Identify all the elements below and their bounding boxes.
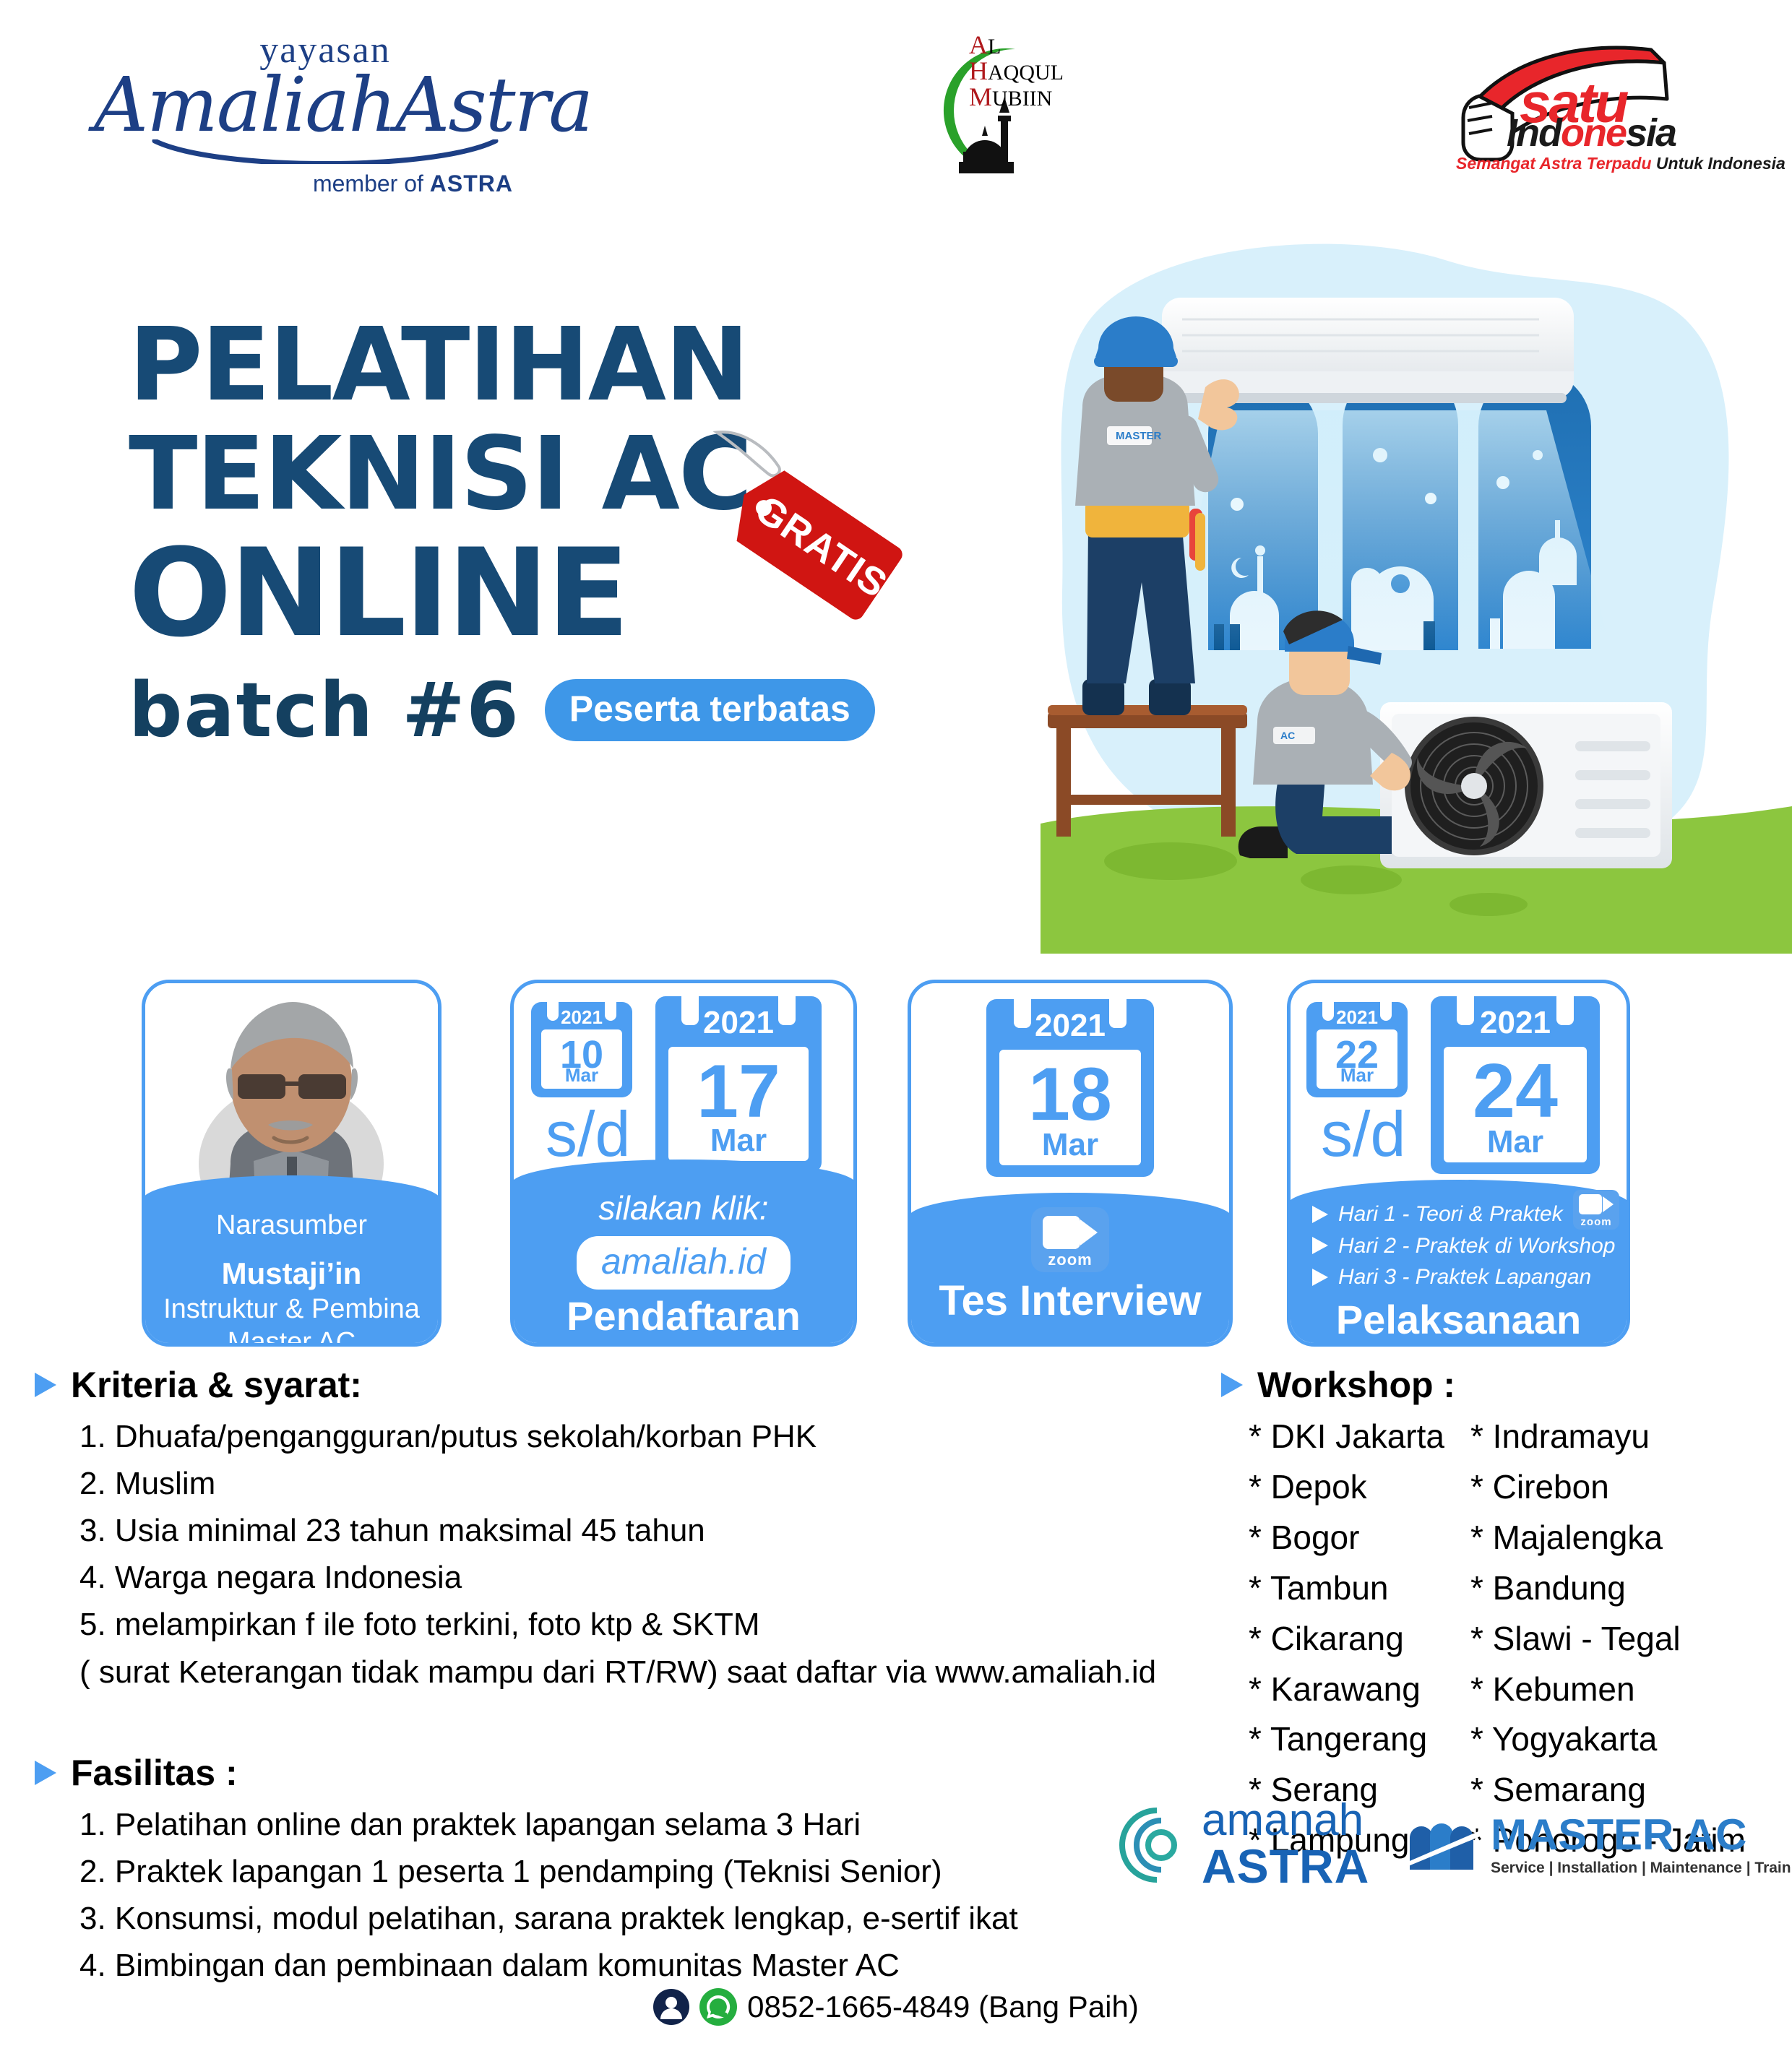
pendaftaran-klik-label: silakan klik:	[511, 1188, 856, 1227]
fasilitas-list: 1. Pelatihan online dan praktek lapangan…	[79, 1801, 1162, 1989]
workshop-section: Workshop : * DKI Jakarta * Depok * Bogor…	[1221, 1364, 1770, 1866]
bullet-triangle-icon	[35, 1761, 56, 1785]
member-of-label: member of	[313, 170, 430, 197]
cal-interview-month: Mar	[999, 1129, 1141, 1161]
list-item: * Cikarang	[1249, 1614, 1444, 1664]
narasumber-text: Narasumber Mustaji’in Instruktur & Pembi…	[142, 1175, 441, 1347]
satu-indonesia-logo: satu Indonesia Semangat Astra Terpadu Un…	[1434, 18, 1709, 184]
workshop-title: Workshop :	[1257, 1364, 1455, 1406]
zoom-label: zoom	[1043, 1251, 1098, 1269]
narasumber-role-2: Master AC	[142, 1326, 441, 1347]
contact-footer: 0852-1665-4849 (Bang Paih)	[0, 1988, 1792, 2026]
pelaksanaan-day-3: Hari 3 - Praktek Lapangan	[1338, 1261, 1591, 1293]
satu-tagline: Semangat Astra Terpadu Untuk Indonesia	[1456, 154, 1785, 173]
amanah-wordmark: amanah ASTRA	[1202, 1799, 1369, 1889]
haqqul-line-2: HAQQUL	[969, 58, 1064, 84]
pelaksanaan-wave: zoom Hari 1 - Teori & Praktek Hari 2 - P…	[1288, 1180, 1629, 1346]
interview-wave: zoom Tes Interview	[908, 1193, 1232, 1346]
list-item: * Semarang	[1470, 1765, 1746, 1815]
list-item: * DKI Jakarta	[1249, 1412, 1444, 1462]
fasilitas-heading: Fasilitas :	[35, 1752, 1162, 1794]
cal-interview-day: 18	[999, 1057, 1141, 1132]
narasumber-title: Narasumber	[142, 1209, 441, 1242]
calendar-pel-end-icon: 2021 24 Mar	[1431, 996, 1600, 1174]
cal-start-year: 2021	[531, 1006, 632, 1029]
narasumber-card: Narasumber Mustaji’in Instruktur & Pembi…	[142, 980, 441, 1347]
fasilitas-title: Fasilitas :	[71, 1752, 238, 1794]
pel-date-separator: s/d	[1321, 1097, 1405, 1171]
list-item: 3. Konsumsi, modul pelatihan, sarana pra…	[79, 1895, 1162, 1942]
pendaftaran-url: amaliah.id	[601, 1241, 766, 1282]
zoom-camera-glyph	[1043, 1216, 1098, 1249]
kriteria-heading: Kriteria & syarat:	[35, 1364, 1162, 1406]
cal-start-month: Mar	[541, 1066, 622, 1084]
fasilitas-section: Fasilitas : 1. Pelatihan online dan prak…	[35, 1752, 1162, 1989]
list-item: * Yogyakarta	[1470, 1714, 1746, 1765]
list-item: * Karawang	[1249, 1664, 1444, 1715]
ac-technicians-illustration: MASTER	[1041, 217, 1792, 954]
list-item: * Slawi - Tegal	[1470, 1614, 1746, 1664]
list-item: * Majalengka	[1470, 1513, 1746, 1563]
amanah-astra-label: ASTRA	[1202, 1843, 1369, 1890]
pendaftaran-url-button[interactable]: amaliah.id	[577, 1236, 791, 1290]
zoom-icon: zoom	[1031, 1207, 1109, 1272]
headline-line-1: PELATIHAN	[129, 311, 938, 420]
illustration-svg: MASTER	[1041, 217, 1792, 954]
list-item: * Indramayu	[1470, 1412, 1746, 1462]
satu-indonesia-label: Indonesia	[1507, 111, 1676, 155]
master-ac-mark-icon	[1398, 1816, 1485, 1873]
pendaftaran-wave: silakan klik: amaliah.id Pendaftaran	[511, 1160, 856, 1346]
amaliah-swoosh-icon	[152, 139, 499, 164]
pelaksanaan-card: 2021 22 Mar s/d 2021 24 Mar	[1287, 980, 1630, 1347]
cal-pel-start-month: Mar	[1317, 1066, 1397, 1084]
master-ac-services: Service | Installation | Maintenance | T…	[1491, 1860, 1792, 1877]
pendaftaran-text: silakan klik: amaliah.id Pendaftaran	[511, 1160, 856, 1339]
list-item: * Tangerang	[1249, 1714, 1444, 1765]
list-item: 1. Dhuafa/pengangguran/putus sekolah/kor…	[79, 1413, 1162, 1460]
list-item: 5. melampirkan f ile foto terkini, foto …	[79, 1601, 1162, 1648]
cal-pel-end-month: Mar	[1444, 1126, 1587, 1158]
workshop-column-2: * Indramayu * Cirebon * Majalengka * Ban…	[1470, 1412, 1746, 1866]
zoom-label-mini: zoom	[1579, 1216, 1614, 1228]
list-item: 4. Warga negara Indonesia	[79, 1554, 1162, 1601]
person-icon	[653, 1989, 689, 2025]
svg-text:MASTER: MASTER	[1116, 430, 1162, 442]
peserta-terbatas-badge: Peserta terbatas	[545, 679, 875, 741]
cal-pel-start-year: 2021	[1306, 1006, 1408, 1029]
list-item: 2. Muslim	[79, 1460, 1162, 1507]
cal-pel-end-year: 2021	[1431, 1005, 1600, 1041]
list-item: 2. Praktek lapangan 1 peserta 1 pendampi…	[79, 1848, 1162, 1895]
schedule-card-row: Narasumber Mustaji’in Instruktur & Pembi…	[142, 980, 1630, 1347]
master-ac-wordmark: MASTER AC Service | Installation | Maint…	[1491, 1813, 1792, 1877]
master-ac-logo: MASTER AC Service | Installation | Maint…	[1398, 1813, 1709, 1893]
bullet-triangle-icon	[1221, 1373, 1243, 1397]
cal-interview-year: 2021	[986, 1008, 1154, 1044]
logo-bar: yayasan AmaliahAstra member of ASTRA AL	[0, 0, 1792, 217]
haqqul-line-1: AL	[969, 32, 1064, 58]
interview-card: 2021 18 Mar zoom Tes Interview	[908, 980, 1233, 1347]
bullet-triangle-icon	[1312, 1269, 1328, 1286]
calendar-pel-start-icon: 2021 22 Mar	[1306, 1002, 1408, 1097]
list-item: 1. Pelatihan online dan praktek lapangan…	[79, 1801, 1162, 1848]
master-ac-name: MASTER AC	[1491, 1813, 1792, 1857]
pelaksanaan-day-1: Hari 1 - Teori & Praktek	[1338, 1199, 1563, 1230]
list-item: * Depok	[1249, 1462, 1444, 1513]
kriteria-title: Kriteria & syarat:	[71, 1364, 362, 1406]
contact-phone: 0852-1665-4849 (Bang Paih)	[747, 1990, 1139, 2024]
list-item: 4. Bimbingan dan pembinaan dalam komunit…	[79, 1942, 1162, 1989]
bullet-triangle-icon	[1312, 1237, 1328, 1254]
list-item: 3. Usia minimal 23 tahun maksimal 45 tah…	[79, 1507, 1162, 1554]
list-item: * Bandung	[1470, 1563, 1746, 1614]
pelaksanaan-calendars: 2021 22 Mar s/d 2021 24 Mar	[1291, 983, 1627, 1194]
zoom-icon-mini: zoom	[1573, 1190, 1619, 1230]
haqqul-line-3: MUBIIN	[969, 84, 1064, 110]
haqqul-wordmark: AL HAQQUL MUBIIN	[969, 32, 1064, 110]
amanah-arcs-icon	[1116, 1805, 1197, 1886]
svg-text:AC: AC	[1280, 730, 1295, 741]
cal-pel-end-day: 24	[1444, 1053, 1587, 1129]
whatsapp-icon[interactable]	[699, 1988, 737, 2026]
interview-text: zoom Tes Interview	[908, 1193, 1232, 1325]
list-item: * Cirebon	[1470, 1462, 1746, 1513]
cal-end-month: Mar	[668, 1125, 809, 1157]
calendar-end-icon: 2021 17 Mar	[655, 996, 822, 1173]
pelaksanaan-label: Pelaksanaan	[1288, 1296, 1629, 1343]
list-item: * Tambun	[1249, 1563, 1444, 1614]
al-haqqul-mubiin-logo: AL HAQQUL MUBIIN	[907, 20, 1095, 194]
calendar-interview-icon: 2021 18 Mar	[986, 999, 1154, 1177]
amaliah-member-text: member of ASTRA	[94, 170, 556, 197]
narasumber-wave: Narasumber Mustaji’in Instruktur & Pembi…	[142, 1175, 441, 1346]
pendaftaran-label: Pendaftaran	[511, 1292, 856, 1339]
cal-end-year: 2021	[655, 1005, 822, 1041]
interview-calendar-area: 2021 18 Mar	[911, 983, 1229, 1194]
astra-brand-label: ASTRA	[430, 170, 513, 197]
amanah-label: amanah	[1202, 1799, 1369, 1843]
list-item: * Bogor	[1249, 1513, 1444, 1563]
list-item: Hari 2 - Praktek di Workshop	[1312, 1230, 1629, 1262]
bullet-triangle-icon	[35, 1373, 56, 1397]
amaliah-astra-logo: yayasan AmaliahAstra member of ASTRA	[94, 29, 556, 197]
pendaftaran-card[interactable]: 2021 10 Mar s/d 2021 17 Mar	[510, 980, 857, 1347]
batch-label: batch #6	[129, 666, 520, 754]
list-item: Hari 3 - Praktek Lapangan	[1312, 1261, 1629, 1293]
kriteria-list: 1. Dhuafa/pengangguran/putus sekolah/kor…	[79, 1413, 1162, 1696]
bullet-triangle-icon	[1312, 1206, 1328, 1223]
batch-row: batch #6 Peserta terbatas	[129, 666, 938, 754]
amanah-astra-logo: amanah ASTRA	[1116, 1799, 1355, 1893]
cal-end-day: 17	[668, 1054, 809, 1129]
narasumber-name: Mustaji’in	[142, 1255, 441, 1292]
amaliah-script-text: AmaliahAstra	[94, 67, 556, 142]
zoom-camera-glyph-mini	[1579, 1194, 1614, 1214]
list-item: ( surat Keterangan tidak mampu dari RT/R…	[79, 1649, 1162, 1696]
requirements-section: Kriteria & syarat: 1. Dhuafa/penganggura…	[35, 1364, 1162, 1989]
list-item: * Kebumen	[1470, 1664, 1746, 1715]
narasumber-role-1: Instruktur & Pembina	[142, 1292, 441, 1326]
workshop-heading: Workshop :	[1221, 1364, 1770, 1406]
pelaksanaan-day-2: Hari 2 - Praktek di Workshop	[1338, 1230, 1615, 1262]
calendar-start-icon: 2021 10 Mar	[531, 1002, 632, 1097]
interview-label: Tes Interview	[908, 1277, 1232, 1325]
